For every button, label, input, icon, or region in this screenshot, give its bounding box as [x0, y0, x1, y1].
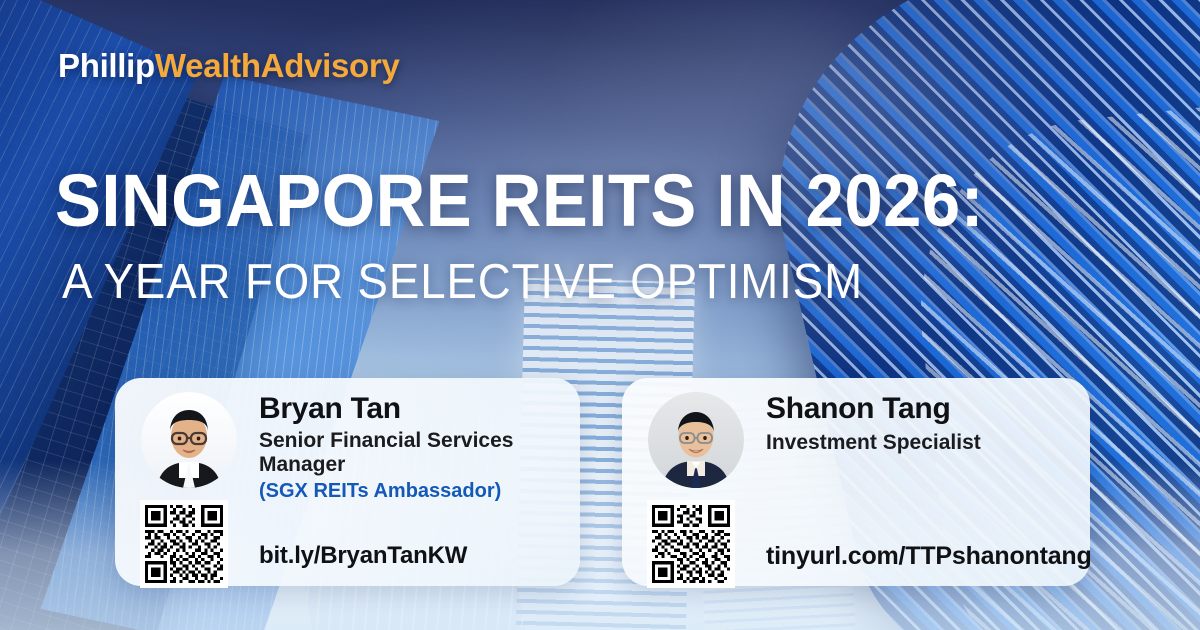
avatar [141, 392, 237, 488]
brand-logo-phillip: Phillip [58, 47, 155, 84]
speaker-details: Bryan Tan Senior Financial Services Mana… [259, 392, 570, 503]
qr-code[interactable] [140, 500, 228, 588]
avatar [648, 392, 744, 488]
speaker-card-bryan-tan: Bryan Tan Senior Financial Services Mana… [115, 378, 580, 586]
brand-logo: PhillipWealthAdvisory [58, 47, 400, 85]
speaker-role: Investment Specialist [766, 431, 1076, 456]
qr-code[interactable] [647, 500, 735, 588]
speaker-link[interactable]: bit.ly/BryanTanKW [259, 542, 467, 570]
speaker-role: Senior Financial Services Manager [259, 429, 569, 479]
speaker-details: Shanon Tang Investment Specialist [766, 392, 1080, 455]
speaker-name: Bryan Tan [259, 392, 570, 426]
speaker-name: Shanon Tang [766, 392, 1080, 426]
brand-logo-wealthadvisory: WealthAdvisory [155, 47, 400, 84]
speaker-link[interactable]: tinyurl.com/TTPshanontang [766, 542, 1092, 571]
speaker-card-shanon-tang: Shanon Tang Investment Specialist tinyur… [622, 378, 1090, 586]
hero-title: SINGAPORE REITS IN 2026: [55, 164, 984, 238]
poster-canvas: PhillipWealthAdvisory SINGAPORE REITS IN… [0, 0, 1200, 630]
speaker-badge: (SGX REITs Ambassador) [259, 479, 570, 503]
hero-subtitle: A YEAR FOR SELECTIVE OPTIMISM [62, 258, 863, 307]
